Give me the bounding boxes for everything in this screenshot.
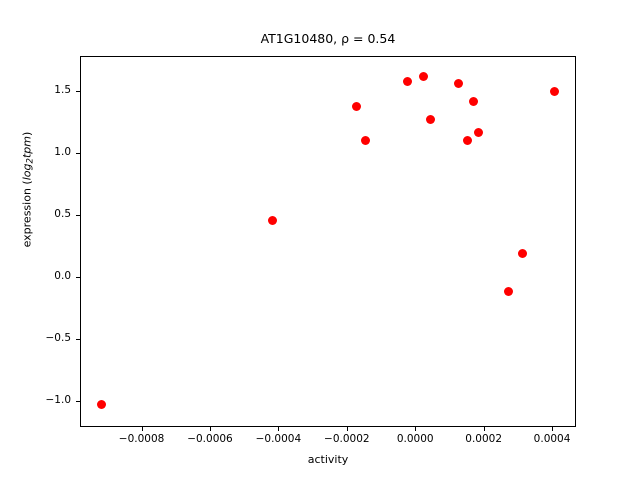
scatter-point [454, 79, 463, 88]
x-axis-tick [210, 427, 211, 431]
scatter-points-layer [81, 57, 575, 426]
scatter-point [97, 400, 106, 409]
plot-title-line-1: AT1G10480, ρ = 0.54 [261, 31, 396, 46]
y-axis-tick-label: −1.0 [22, 394, 71, 406]
scatter-point [426, 115, 435, 124]
x-axis-tick [415, 427, 416, 431]
y-axis-label-suffix: ) [20, 132, 33, 136]
x-axis-tick [347, 427, 348, 431]
y-axis-tick [76, 277, 80, 278]
y-axis-tick [76, 339, 80, 340]
scatter-point [361, 136, 370, 145]
scatter-point [403, 77, 412, 86]
y-axis-label-unit: tpm [20, 136, 33, 158]
scatter-point [419, 72, 428, 81]
x-axis-tick-label: −0.0002 [312, 433, 382, 445]
x-axis-label: activity [80, 453, 576, 466]
x-axis-tick-label: 0.0004 [517, 433, 587, 445]
x-axis-tick [552, 427, 553, 431]
y-axis-label-subscript: 2 [26, 158, 36, 163]
scatter-point [469, 97, 478, 106]
x-axis-tick-label: 0.0002 [449, 433, 519, 445]
scatter-plot-figure: AT1G10480, ρ = 0.54 arTal_v1_Chr1_+_3449… [0, 0, 640, 480]
x-axis-tick-label: 0.0000 [380, 433, 450, 445]
y-axis-label-log: log [20, 164, 33, 181]
scatter-point [474, 128, 483, 137]
scatter-point [518, 249, 527, 258]
x-axis-tick-label: −0.0004 [243, 433, 313, 445]
y-axis-tick-label: −0.5 [22, 332, 71, 344]
x-axis-tick [484, 427, 485, 431]
y-axis-label: expression (log2tpm) [20, 70, 35, 310]
x-axis-tick [142, 427, 143, 431]
y-axis-tick [76, 153, 80, 154]
x-axis-tick-label: −0.0006 [175, 433, 245, 445]
scatter-point [463, 136, 472, 145]
scatter-point [268, 216, 277, 225]
scatter-point [550, 87, 559, 96]
plot-axes-frame [80, 56, 576, 427]
scatter-point [504, 287, 513, 296]
y-axis-tick [76, 91, 80, 92]
x-axis-tick [278, 427, 279, 431]
x-axis-tick-label: −0.0008 [107, 433, 177, 445]
y-axis-label-prefix: expression ( [20, 180, 33, 247]
y-axis-tick [76, 401, 80, 402]
scatter-point [352, 102, 361, 111]
y-axis-tick [76, 215, 80, 216]
